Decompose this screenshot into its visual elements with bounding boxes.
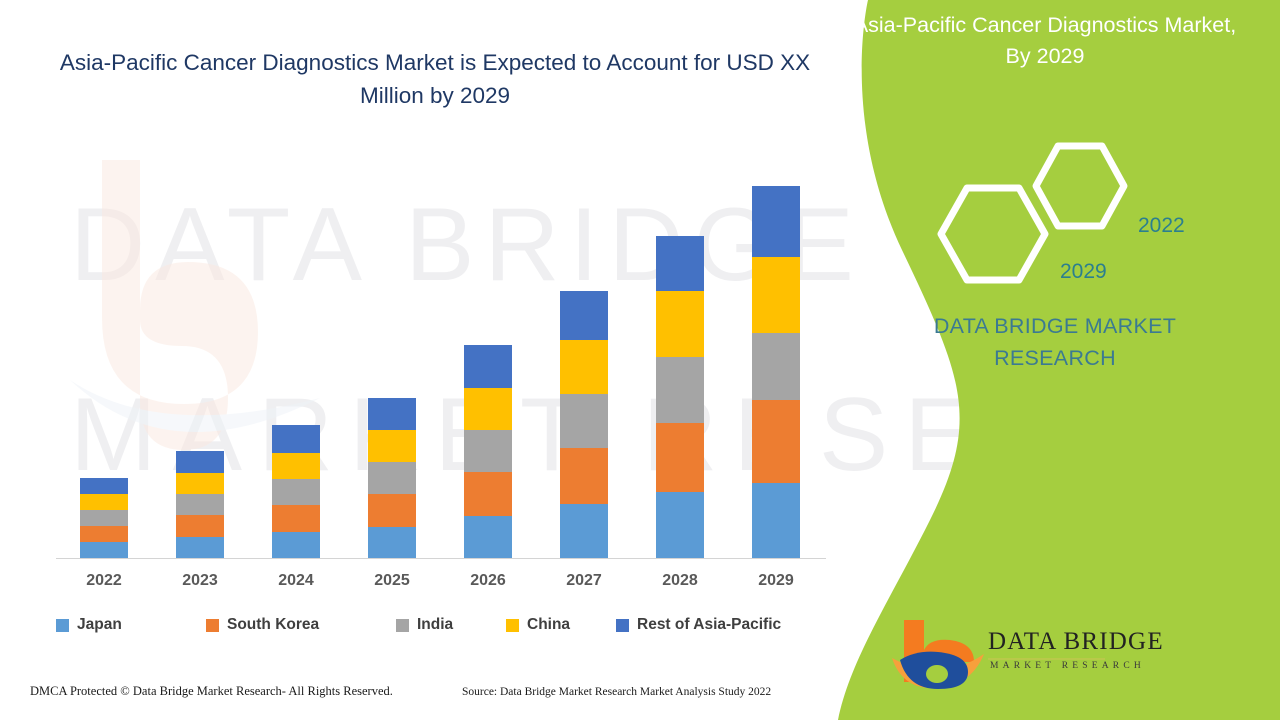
- footer-copyright: DMCA Protected © Data Bridge Market Rese…: [30, 684, 393, 699]
- bar-segment-japan: [752, 483, 800, 558]
- bar-segment-japan: [80, 542, 128, 558]
- bar-segment-india: [560, 394, 608, 448]
- legend-swatch-icon: [616, 619, 629, 632]
- legend-item-south-korea[interactable]: South Korea: [206, 616, 319, 634]
- chart-legend: JapanSouth KoreaIndiaChinaRest of Asia-P…: [56, 616, 826, 642]
- brand-panel: Asia-Pacific Cancer Diagnostics Market, …: [810, 0, 1280, 720]
- panel-title: Asia-Pacific Cancer Diagnostics Market, …: [850, 10, 1240, 72]
- bar-2023[interactable]: [176, 451, 224, 558]
- bar-segment-china: [656, 291, 704, 357]
- legend-item-india[interactable]: India: [396, 616, 453, 634]
- x-axis-label-2024: 2024: [248, 572, 344, 590]
- bar-segment-china: [368, 430, 416, 462]
- x-axis-label-2023: 2023: [152, 572, 248, 590]
- bar-segment-india: [80, 510, 128, 526]
- data-bridge-mark-icon: [890, 618, 986, 690]
- bar-2027[interactable]: [560, 291, 608, 558]
- bar-segment-rest-of-asia-pacific: [752, 186, 800, 257]
- bar-segment-south-korea: [80, 526, 128, 542]
- bar-segment-india: [464, 430, 512, 472]
- bar-segment-china: [560, 340, 608, 394]
- hex-label-2029: 2029: [1060, 260, 1107, 284]
- bar-2022[interactable]: [80, 478, 128, 558]
- legend-swatch-icon: [506, 619, 519, 632]
- bar-segment-japan: [464, 516, 512, 558]
- bar-segment-rest-of-asia-pacific: [272, 425, 320, 453]
- hexagon-badges: 2022 2029: [920, 140, 1240, 300]
- x-axis-label-2026: 2026: [440, 572, 536, 590]
- bar-segment-japan: [272, 532, 320, 558]
- legend-label: China: [527, 616, 570, 634]
- legend-label: India: [417, 616, 453, 634]
- stacked-bar-chart: 20222023202420252026202720282029 JapanSo…: [0, 0, 840, 600]
- bar-segment-china: [272, 453, 320, 479]
- hex-label-2022: 2022: [1138, 214, 1185, 238]
- bar-segment-japan: [656, 492, 704, 558]
- x-axis-label-2027: 2027: [536, 572, 632, 590]
- chart-bars-area: [56, 160, 826, 558]
- bar-segment-south-korea: [752, 400, 800, 483]
- bar-2026[interactable]: [464, 345, 512, 558]
- legend-item-japan[interactable]: Japan: [56, 616, 122, 634]
- bar-segment-south-korea: [272, 505, 320, 532]
- bar-segment-south-korea: [368, 494, 416, 527]
- bar-segment-japan: [560, 504, 608, 558]
- bar-segment-china: [464, 388, 512, 430]
- bar-segment-india: [176, 494, 224, 515]
- brand-logo: DATA BRIDGE MARKET RESEARCH: [890, 618, 1110, 690]
- legend-item-rest-of-asia-pacific[interactable]: Rest of Asia-Pacific: [616, 616, 781, 634]
- x-axis-label-2025: 2025: [344, 572, 440, 590]
- legend-label: Japan: [77, 616, 122, 634]
- bar-segment-south-korea: [464, 472, 512, 516]
- bar-2028[interactable]: [656, 236, 704, 558]
- bar-segment-india: [752, 333, 800, 400]
- bar-2029[interactable]: [752, 186, 800, 558]
- legend-label: South Korea: [227, 616, 319, 634]
- legend-label: Rest of Asia-Pacific: [637, 616, 781, 634]
- legend-swatch-icon: [396, 619, 409, 632]
- panel-brand-name: DATA BRIDGE MARKET RESEARCH: [870, 310, 1240, 374]
- bar-segment-china: [176, 473, 224, 494]
- bar-segment-china: [752, 257, 800, 333]
- bar-segment-china: [80, 494, 128, 510]
- chart-axis-line: [56, 558, 826, 559]
- chart-x-axis-labels: 20222023202420252026202720282029: [56, 572, 826, 598]
- bar-segment-rest-of-asia-pacific: [656, 236, 704, 291]
- bar-segment-japan: [368, 527, 416, 558]
- bar-2025[interactable]: [368, 398, 416, 558]
- infographic-root: DATA BRIDGE MARKET RESEARCH Asia-Pacific…: [0, 0, 1280, 720]
- bar-segment-rest-of-asia-pacific: [560, 291, 608, 340]
- logo-rule: [988, 658, 1105, 660]
- bar-segment-rest-of-asia-pacific: [80, 478, 128, 494]
- bar-segment-rest-of-asia-pacific: [368, 398, 416, 430]
- footer-source: Source: Data Bridge Market Research Mark…: [462, 686, 771, 698]
- bar-segment-rest-of-asia-pacific: [464, 345, 512, 388]
- legend-swatch-icon: [56, 619, 69, 632]
- bar-segment-south-korea: [560, 448, 608, 504]
- bar-2024[interactable]: [272, 425, 320, 558]
- x-axis-label-2028: 2028: [632, 572, 728, 590]
- bar-segment-rest-of-asia-pacific: [176, 451, 224, 473]
- legend-item-china[interactable]: China: [506, 616, 570, 634]
- legend-swatch-icon: [206, 619, 219, 632]
- logo-wordmark: DATA BRIDGE: [988, 628, 1164, 656]
- bar-segment-india: [368, 462, 416, 494]
- bar-segment-india: [656, 357, 704, 423]
- bar-segment-japan: [176, 537, 224, 558]
- bar-segment-south-korea: [176, 515, 224, 537]
- x-axis-label-2022: 2022: [56, 572, 152, 590]
- bar-segment-india: [272, 479, 320, 505]
- logo-tagline: MARKET RESEARCH: [990, 661, 1145, 671]
- bar-segment-south-korea: [656, 423, 704, 492]
